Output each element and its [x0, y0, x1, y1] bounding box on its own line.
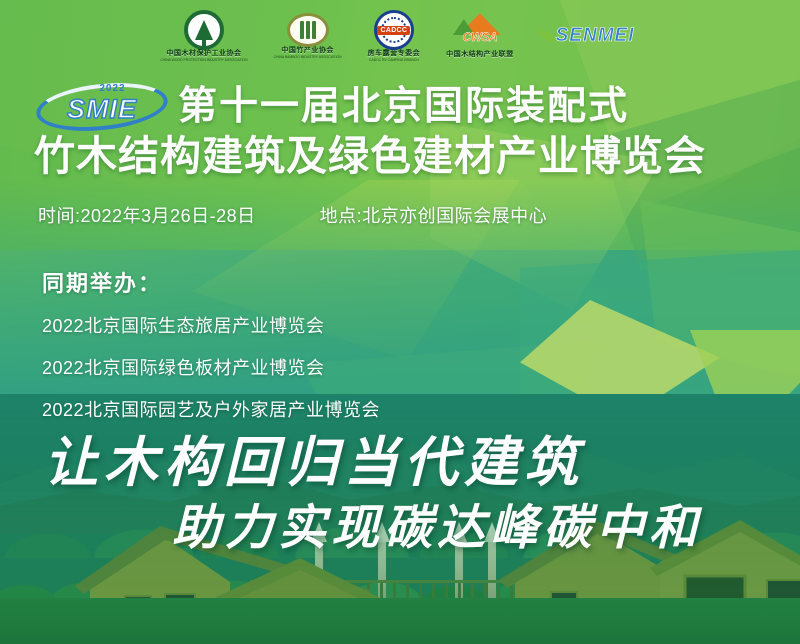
cadcc-seal-icon: CADCC [374, 10, 414, 50]
logo-label-cn: 中国木材保护工业协会 [166, 50, 241, 58]
concurrent-events-block: 同期举办： 2022北京国际生态旅居产业博览会 2022北京国际绿色板材产业博览… [42, 266, 380, 438]
logo-label-cn: 房车露营专委会 [368, 50, 421, 58]
headline-line-2-row: 竹木结构建筑及绿色建材产业博览会 [0, 134, 800, 178]
house-roof-emblem-icon: CWSA [451, 13, 509, 47]
headline-block: 2022 SMIE 第十一届北京国际装配式 竹木结构建筑及绿色建材产业博览会 [0, 84, 800, 178]
smie-logo[interactable]: 2022 SMIE [36, 84, 168, 130]
exhibition-poster: 中国木材保护工业协会 CHINA WOOD PROTECTION INDUSTR… [0, 0, 800, 644]
concurrent-event-item: 2022北京国际绿色板材产业博览会 [42, 354, 380, 380]
logo-bamboo-industry-association[interactable]: 中国竹产业协会 CHINA BAMBOO INDUSTRY ASSOCIATIO… [274, 13, 342, 59]
concurrent-event-item: 2022北京国际生态旅居产业博览会 [42, 312, 380, 338]
concurrent-events-heading: 同期举办： [42, 266, 380, 298]
event-date: 时间:2022年3月26日-28日 [38, 202, 256, 228]
slogan-line-1: 让木构回归当代建筑 [44, 418, 584, 497]
logo-label-cn: 中国竹产业协会 [281, 47, 334, 55]
headline-line-1-row: 2022 SMIE 第十一届北京国际装配式 [0, 84, 800, 130]
logo-senmei[interactable]: SENMEI [540, 21, 640, 51]
logo-label-en: CHINA WOOD PROTECTION INDUSTRY ASSOCIATI… [160, 58, 247, 62]
cadcc-abbr: CADCC [377, 26, 410, 35]
logo-label-cn: 中国木结构产业联盟 [446, 51, 514, 59]
pine-tree-emblem-icon [184, 10, 224, 50]
event-meta: 时间:2022年3月26日-28日 地点:北京亦创国际会展中心 [38, 202, 547, 228]
bamboo-emblem-icon [287, 13, 329, 47]
logo-label-en: CHINA BAMBOO INDUSTRY ASSOCIATION [274, 55, 342, 59]
logo-china-wood-structure-industry-alliance[interactable]: CWSA 中国木结构产业联盟 [446, 13, 514, 59]
slogan-line-2: 助力实现碳达峰碳中和 [172, 488, 702, 558]
smie-wordmark: SMIE [36, 94, 168, 125]
senmei-leaf-icon: SENMEI [540, 21, 640, 51]
title-line-2: 竹木结构建筑及绿色建材产业博览会 [34, 134, 800, 178]
logo-label-en: CADCC RV CAMPING BRANCH [369, 58, 419, 62]
senmei-wordmark: SENMEI [556, 25, 635, 47]
association-logo-strip: 中国木材保护工业协会 CHINA WOOD PROTECTION INDUSTR… [0, 0, 800, 72]
event-venue: 地点:北京亦创国际会展中心 [320, 202, 548, 228]
smie-year: 2022 [99, 83, 125, 94]
title-line-1: 第十一届北京国际装配式 [178, 86, 629, 128]
cwsa-abbr: CWSA [451, 30, 509, 44]
logo-china-wood-protection-industry-association[interactable]: 中国木材保护工业协会 CHINA WOOD PROTECTION INDUSTR… [160, 10, 247, 62]
logo-cadcc-rv-camping-committee[interactable]: CADCC 房车露营专委会 CADCC RV CAMPING BRANCH [368, 10, 421, 62]
